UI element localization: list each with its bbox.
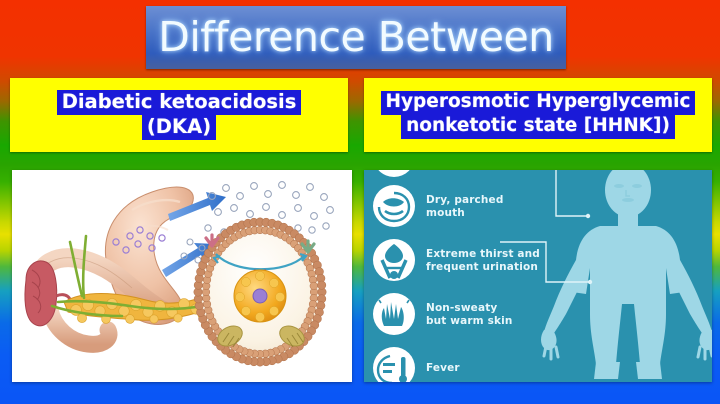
symptom-row-1: Dry, parched mouth [366,180,556,234]
heading-dka-line2: (DKA) [142,115,216,140]
symptom-row-2: Extreme thirst and frequent urination [366,234,556,288]
hand-skin-icon [370,292,418,338]
panel-dka-illustration [12,170,352,382]
dka-anatomy-illustration [12,170,352,382]
symptom-row-4: Fever [366,342,556,382]
thirst-urine-icon [370,238,418,284]
heading-hhnk-line2: nonketotic state [HHNK]) [401,115,675,139]
symptom-label-4: Fever [426,362,460,375]
symptom-list: Dry, parched mouth Extreme thirst and fr… [366,170,556,382]
slide-canvas: Difference Between Diabetic ketoacidosis… [0,0,720,404]
symptom-row-3: Non-sweaty but warm skin [366,288,556,342]
symptom-row-cropped-top [366,170,556,180]
panel-hhnk-symptoms: Dry, parched mouth Extreme thirst and fr… [364,170,712,382]
heading-box-dka: Diabetic ketoacidosis (DKA) [10,78,348,152]
heading-hhnk-line1: Hyperosmotic Hyperglycemic [381,91,696,115]
mouth-icon [370,184,418,230]
heading-dka-line1: Diabetic ketoacidosis [57,90,302,115]
symptom-label-1: Dry, parched mouth [426,194,503,220]
page-title: Difference Between [158,17,553,58]
thermometer-icon [370,346,418,382]
symptom-label-2: Extreme thirst and frequent urination [426,248,540,274]
slide-title-box: Difference Between [146,6,566,69]
symptom-label-3: Non-sweaty but warm skin [426,302,512,328]
cropped-icon [370,170,418,180]
heading-box-hhnk: Hyperosmotic Hyperglycemic nonketotic st… [364,78,712,152]
